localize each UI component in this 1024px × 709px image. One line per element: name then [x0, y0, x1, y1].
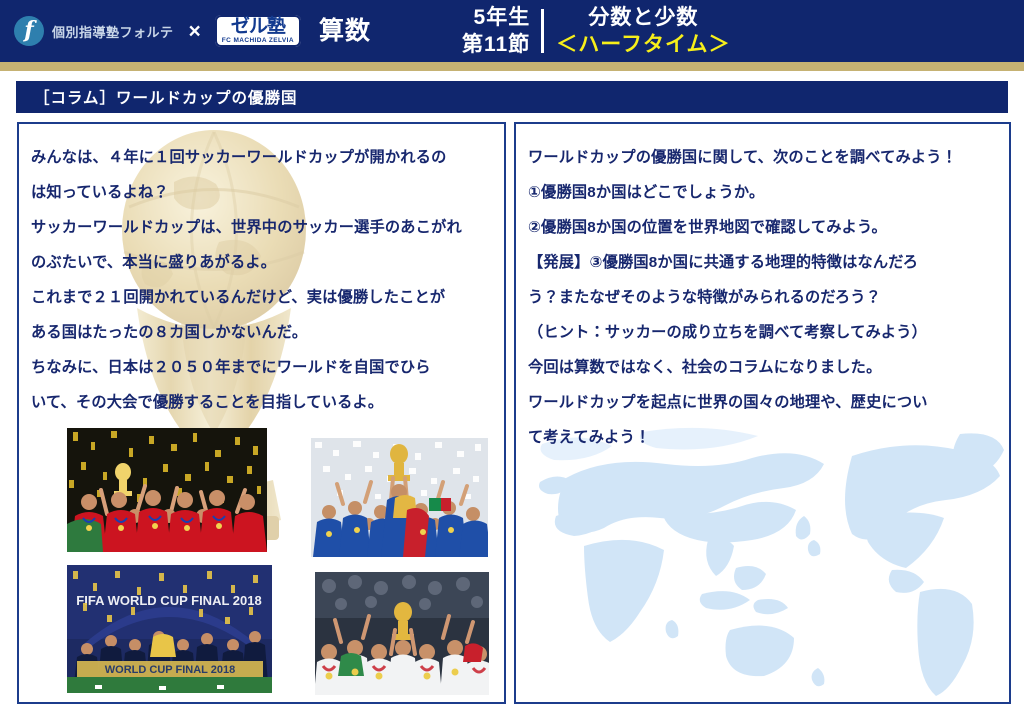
grade-label: 5年生	[462, 4, 530, 31]
left-content-panel: みんなは、４年に１回サッカーワールドカップが開かれるの は知っているよね？ サッ…	[17, 122, 506, 704]
zelvia-logo-sub: FC MACHIDA ZELVIA	[222, 37, 294, 45]
left-line-1: みんなは、４年に１回サッカーワールドカップが開かれるの	[31, 140, 490, 175]
photo-italy-2006-celebration	[311, 438, 488, 557]
left-line-2: は知っているよね？	[31, 175, 490, 210]
section-label: 第11節	[462, 31, 530, 58]
column-title-bar: ［コラム］ワールドカップの優勝国	[17, 82, 1007, 112]
right-line-1: ワールドカップの優勝国に関して、次のことを調べてみよう！	[528, 140, 995, 175]
grade-section-block: 5年生 第11節	[462, 4, 541, 58]
right-line-8: ワールドカップを起点に世界の国々の地理や、歴史につい	[528, 385, 995, 420]
header-lesson-group: 5年生 第11節 分数と少数 ＜ハーフタイム＞	[462, 0, 731, 62]
right-line-7: 今回は算数ではなく、社会のコラムになりました。	[528, 350, 995, 385]
photo-france-2018-celebration: FIFA WORLD CUP FINAL 2018	[67, 565, 272, 693]
right-content-panel: ワールドカップの優勝国に関して、次のことを調べてみよう！ ①優勝国8か国はどこで…	[514, 122, 1011, 704]
right-panel-text: ワールドカップの優勝国に関して、次のことを調べてみよう！ ①優勝国8か国はどこで…	[516, 124, 1009, 455]
photo-collage: FIFA WORLD CUP FINAL 2018	[19, 420, 500, 700]
topic-block: 分数と少数 ＜ハーフタイム＞	[544, 4, 730, 58]
topic-subtitle: ＜ハーフタイム＞	[556, 31, 730, 58]
right-line-6: （ヒント：サッカーの成り立ちを調べて考察してみよう）	[528, 315, 995, 350]
left-line-3: サッカーワールドカップは、世界中のサッカー選手のあこがれ	[31, 210, 490, 245]
left-panel-text: みんなは、４年に１回サッカーワールドカップが開かれるの は知っているよね？ サッ…	[19, 124, 504, 420]
photo-spain-2010-celebration	[67, 428, 267, 552]
zelvia-logo-main: ゼル塾	[231, 17, 285, 37]
forte-brand-label: 個別指導塾フォルテ	[52, 22, 174, 41]
forte-f-icon: f	[14, 16, 44, 46]
left-line-6: ある国はたったの８カ国しかないんだ。	[31, 315, 490, 350]
zelvia-logo: ゼル塾 FC MACHIDA ZELVIA	[215, 15, 301, 47]
right-line-4: 【発展】③優勝国8か国に共通する地理的特徴はなんだろ	[528, 245, 995, 280]
worksheet-page: f 個別指導塾フォルテ × ゼル塾 FC MACHIDA ZELVIA 算数 5…	[0, 0, 1024, 709]
left-line-7: ちなみに、日本は２０５０年までにワールドを自国でひら	[31, 350, 490, 385]
right-line-9: て考えてみよう！	[528, 420, 995, 455]
left-line-8: いて、その大会で優勝することを目指しているよ。	[31, 385, 490, 420]
right-line-5: う？またなぜそのような特徴がみられるのだろう？	[528, 280, 995, 315]
france-banner-text: FIFA WORLD CUP FINAL 2018	[76, 593, 261, 608]
right-line-2: ①優勝国8か国はどこでしょうか。	[528, 175, 995, 210]
forte-logo: f 個別指導塾フォルテ	[14, 16, 174, 46]
header-brand-group: f 個別指導塾フォルテ × ゼル塾 FC MACHIDA ZELVIA 算数	[0, 15, 371, 47]
photo-germany-2014-celebration	[315, 572, 489, 695]
column-title-label: ［コラム］ワールドカップの優勝国	[17, 86, 298, 108]
topic-title: 分数と少数	[556, 4, 730, 31]
right-line-3: ②優勝国8か国の位置を世界地図で確認してみよう。	[528, 210, 995, 245]
collaboration-cross-icon: ×	[189, 21, 201, 42]
left-line-5: これまで２１回開かれているんだけど、実は優勝したことが	[31, 280, 490, 315]
left-line-4: のぶたいで、本当に盛りあがるよ。	[31, 245, 490, 280]
svg-text:WORLD CUP FINAL 2018: WORLD CUP FINAL 2018	[105, 664, 235, 676]
subject-label: 算数	[319, 19, 371, 44]
page-header: f 個別指導塾フォルテ × ゼル塾 FC MACHIDA ZELVIA 算数 5…	[0, 0, 1024, 62]
header-gold-rule	[0, 62, 1024, 71]
world-map-watermark-icon	[522, 424, 1009, 699]
